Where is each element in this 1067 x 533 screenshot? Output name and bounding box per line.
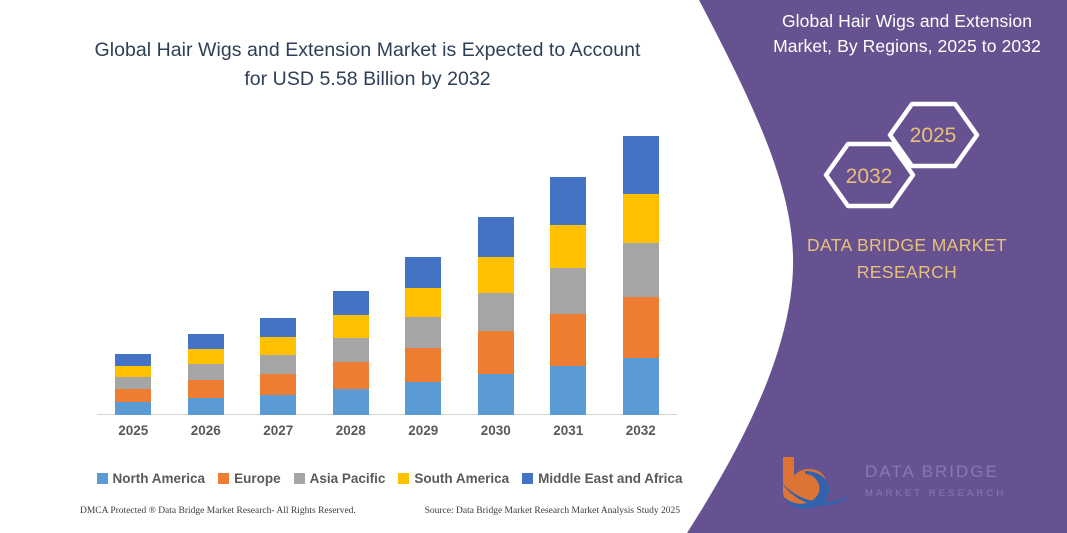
hexagon-2025-label: 2025: [910, 124, 957, 147]
panel-title-line2: Market, By Regions, 2025 to 2032: [763, 34, 1051, 59]
legend-swatch-icon: [294, 473, 305, 484]
legend-label: Europe: [234, 471, 281, 486]
bar-segment-2031-south-america: [550, 225, 586, 268]
x-axis-label-2026: 2026: [176, 423, 236, 438]
bar-segment-2028-south-america: [333, 315, 369, 338]
x-axis-label-2032: 2032: [611, 423, 671, 438]
bar-segment-2029-europe: [405, 348, 441, 382]
x-axis-label-2029: 2029: [393, 423, 453, 438]
legend-swatch-icon: [97, 473, 108, 484]
bar-segment-2025-asia-pacific: [115, 377, 151, 389]
bar-segment-2031-middle-east-and-africa: [550, 177, 586, 225]
watermark-line1: DATA BRIDGE: [865, 462, 999, 481]
bar-segment-2028-north-america: [333, 389, 369, 415]
hexagon-badges: 2025 2032: [747, 90, 1067, 210]
x-axis-label-2030: 2030: [466, 423, 526, 438]
bar-segment-2032-asia-pacific: [623, 243, 659, 297]
bar-segment-2025-middle-east-and-africa: [115, 354, 151, 366]
bar-segment-2030-south-america: [478, 257, 514, 293]
bar-segment-2031-north-america: [550, 366, 586, 415]
legend-item-middle-east-and-africa[interactable]: Middle East and Africa: [522, 471, 682, 486]
page-title-line1: Global Hair Wigs and Extension Market is…: [60, 36, 675, 65]
bar-segment-2025-south-america: [115, 366, 151, 377]
bar-segment-2029-middle-east-and-africa: [405, 257, 441, 288]
panel-content: Global Hair Wigs and Extension Market, B…: [747, 0, 1067, 533]
bar-2030: [478, 217, 514, 415]
logo-mark-icon: [781, 457, 853, 509]
x-axis-label-2025: 2025: [103, 423, 163, 438]
bar-segment-2029-asia-pacific: [405, 317, 441, 348]
bar-segment-2027-south-america: [260, 337, 296, 355]
panel-title-line1: Global Hair Wigs and Extension: [763, 9, 1051, 34]
legend-label: Middle East and Africa: [538, 471, 682, 486]
legend-label: North America: [113, 471, 206, 486]
legend-item-europe[interactable]: Europe: [218, 471, 281, 486]
footer-copyright: DMCA Protected ® Data Bridge Market Rese…: [80, 506, 356, 516]
x-axis-labels: 20252026202720282029203020312032: [97, 423, 677, 445]
legend-label: Asia Pacific: [310, 471, 386, 486]
bar-segment-2025-europe: [115, 389, 151, 402]
x-axis-label-2031: 2031: [538, 423, 598, 438]
bar-segment-2026-asia-pacific: [188, 364, 224, 380]
bar-2028: [333, 291, 369, 415]
bar-segment-2030-middle-east-and-africa: [478, 217, 514, 257]
bar-segment-2031-asia-pacific: [550, 268, 586, 314]
bar-segment-2026-north-america: [188, 398, 224, 415]
bar-segment-2028-asia-pacific: [333, 338, 369, 362]
page-title: Global Hair Wigs and Extension Market is…: [60, 36, 675, 94]
footer-source: Source: Data Bridge Market Research Mark…: [425, 506, 680, 516]
panel-title: Global Hair Wigs and Extension Market, B…: [763, 9, 1051, 59]
bar-segment-2028-europe: [333, 362, 369, 389]
bar-segment-2027-asia-pacific: [260, 355, 296, 374]
stacked-bar-chart: [97, 120, 677, 415]
watermark-line2: MARKET RESEARCH: [865, 488, 1006, 499]
bar-segment-2025-north-america: [115, 402, 151, 415]
bar-segment-2027-north-america: [260, 395, 296, 415]
brand-line1: DATA BRIDGE MARKET: [757, 232, 1057, 259]
hexagon-2032-label: 2032: [846, 165, 893, 188]
legend-swatch-icon: [398, 473, 409, 484]
bar-segment-2032-europe: [623, 297, 659, 358]
x-axis-label-2027: 2027: [248, 423, 308, 438]
bar-2027: [260, 318, 296, 415]
x-axis-label-2028: 2028: [321, 423, 381, 438]
bar-segment-2031-europe: [550, 314, 586, 366]
bar-2032: [623, 136, 659, 415]
brand-line2: RESEARCH: [757, 259, 1057, 286]
bar-segment-2028-middle-east-and-africa: [333, 291, 369, 315]
bar-segment-2029-south-america: [405, 288, 441, 317]
bar-segment-2026-europe: [188, 380, 224, 398]
bar-segment-2030-asia-pacific: [478, 293, 514, 331]
bar-segment-2030-north-america: [478, 374, 514, 415]
bar-2025: [115, 354, 151, 415]
legend-swatch-icon: [522, 473, 533, 484]
legend-item-south-america[interactable]: South America: [398, 471, 509, 486]
bar-segment-2027-middle-east-and-africa: [260, 318, 296, 337]
bar-segment-2032-north-america: [623, 358, 659, 415]
legend-swatch-icon: [218, 473, 229, 484]
legend-item-north-america[interactable]: North America: [97, 471, 206, 486]
bar-2029: [405, 257, 441, 415]
bar-segment-2030-europe: [478, 331, 514, 374]
bar-segment-2032-middle-east-and-africa: [623, 136, 659, 194]
bar-segment-2029-north-america: [405, 382, 441, 415]
data-bridge-watermark-logo: DATA BRIDGE MARKET RESEARCH: [775, 451, 1040, 513]
infographic-root: Global Hair Wigs and Extension Market is…: [0, 0, 1067, 533]
bar-segment-2032-south-america: [623, 194, 659, 243]
chart-legend: North AmericaEuropeAsia PacificSouth Ame…: [97, 471, 682, 486]
brand-name: DATA BRIDGE MARKET RESEARCH: [757, 232, 1057, 286]
hexagon-badges-svg: 2025 2032: [747, 90, 1067, 210]
footer: DMCA Protected ® Data Bridge Market Rese…: [80, 506, 680, 516]
legend-label: South America: [414, 471, 509, 486]
bar-segment-2026-south-america: [188, 349, 224, 364]
bar-segment-2026-middle-east-and-africa: [188, 334, 224, 349]
bar-2026: [188, 334, 224, 415]
bar-2031: [550, 177, 586, 415]
bar-segment-2027-europe: [260, 374, 296, 395]
page-title-line2: for USD 5.58 Billion by 2032: [60, 65, 675, 94]
legend-item-asia-pacific[interactable]: Asia Pacific: [294, 471, 386, 486]
